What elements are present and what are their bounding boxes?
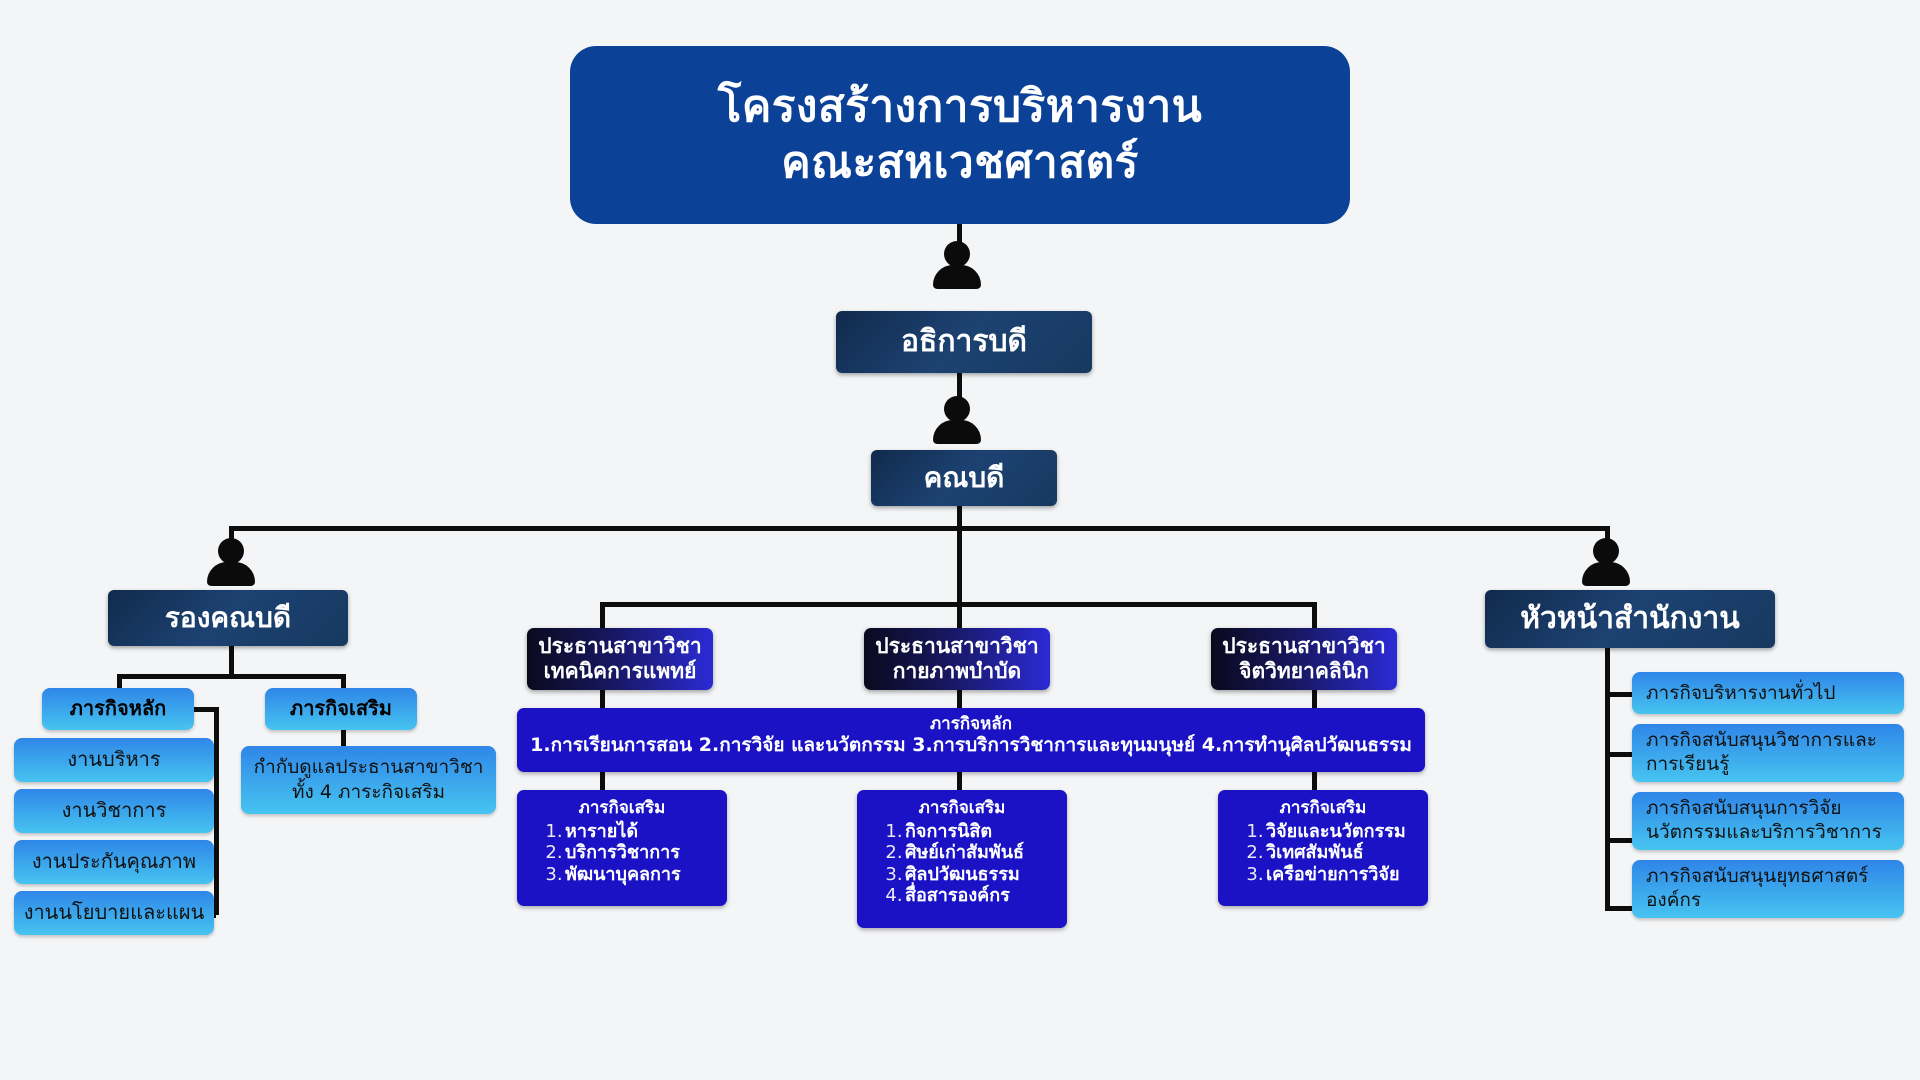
connector-office-item-2 [1605, 838, 1635, 843]
connector-mission-support-1 [957, 772, 962, 792]
node-chair-physical-therapy[interactable]: ประธานสาขาวิชา กายภาพบำบัด [864, 628, 1050, 690]
chip-vicedean-main-item[interactable]: งานบริหาร [14, 738, 214, 782]
chip-office-item[interactable]: ภารกิจสนับสนุนวิชาการและการเรียนรู้ [1632, 724, 1904, 782]
node-dean[interactable]: คณบดี [871, 450, 1057, 506]
connector-office-head-spine [1605, 648, 1610, 908]
connector-chair0-mission [600, 690, 605, 710]
node-office-head[interactable]: หัวหน้าสำนักงาน [1485, 590, 1775, 648]
chip-vicedean-main-group[interactable]: ภารกิจหลัก [42, 688, 194, 730]
node-dean-label: คณบดี [924, 461, 1005, 494]
node-rector-label: อธิการบดี [901, 324, 1027, 359]
panel-support-medical-technology[interactable]: ภารกิจเสริม 1.หารายได้ 2.บริการวิชาการ 3… [517, 790, 727, 906]
chip-vicedean-main-item[interactable]: งานนโยบายและแผน [14, 891, 214, 935]
connector-mission-support-0 [600, 772, 605, 792]
panel-support-clinical-psychology[interactable]: ภารกิจเสริม 1.วิจัยและนวัตกรรม 2.วิเทศสั… [1218, 790, 1428, 906]
panel-shared-main-mission-text: 1.การเรียนการสอน 2.การวิจัย และนวัตกรรม … [527, 734, 1415, 756]
chip-vicedean-support-group[interactable]: ภารกิจเสริม [265, 688, 417, 730]
chip-office-item[interactable]: ภารกิจบริหารงานทั่วไป [1632, 672, 1904, 714]
connector-dean-down [957, 506, 962, 528]
chip-office-item[interactable]: ภารกิจสนับสนุนยุทธศาสตร์องค์กร [1632, 860, 1904, 918]
node-chair-medical-technology[interactable]: ประธานสาขาวิชา เทคนิคการแพทย์ [527, 628, 713, 690]
chart-title-card: โครงสร้างการบริหารงาน คณะสหเวชศาสตร์ [570, 46, 1350, 224]
panel-shared-main-mission-label: ภารกิจหลัก [527, 714, 1415, 734]
rector-person-icon [933, 241, 981, 289]
connector-office-item-0 [1605, 692, 1635, 697]
chart-title-line-1: โครงสร้างการบริหารงาน [718, 79, 1203, 135]
connector-bus-center-drop [957, 526, 962, 606]
chip-vicedean-main-item[interactable]: งานวิชาการ [14, 789, 214, 833]
chip-vicedean-support-group-label: ภารกิจเสริม [290, 697, 392, 721]
org-chart-canvas: โครงสร้างการบริหารงาน คณะสหเวชศาสตร์ อธิ… [0, 0, 1920, 1080]
node-office-head-label: หัวหน้าสำนักงาน [1520, 601, 1740, 636]
connector-top-bus [229, 526, 1610, 531]
connector-chair1-mission [957, 690, 962, 710]
chip-vicedean-main-group-label: ภารกิจหลัก [70, 697, 167, 721]
node-vice-dean[interactable]: รองคณบดี [108, 590, 348, 646]
connector-office-item-3 [1605, 906, 1635, 911]
chip-office-item[interactable]: ภารกิจสนับสนุนการวิจัย นวัตกรรมและบริการ… [1632, 792, 1904, 850]
dean-person-icon [933, 396, 981, 444]
connector-mission-support-2 [1312, 772, 1317, 792]
node-rector[interactable]: อธิการบดี [836, 311, 1092, 373]
connector-vicedean-down [229, 646, 234, 676]
connector-office-item-1 [1605, 752, 1635, 757]
node-vice-dean-label: รองคณบดี [165, 601, 291, 634]
office-head-person-icon [1582, 538, 1630, 586]
connector-vicedean-split [117, 674, 346, 679]
chip-vicedean-support-item[interactable]: กำกับดูแลประธานสาขาวิชาทั้ง 4 ภาระกิจเสร… [241, 746, 496, 814]
panel-support-physical-therapy[interactable]: ภารกิจเสริม 1.กิจการนิสิต 2.ศิษย์เก่าสัม… [857, 790, 1067, 928]
connector-chair2-mission [1312, 690, 1317, 710]
chip-vicedean-main-item[interactable]: งานประกันคุณภาพ [14, 840, 214, 884]
node-chair-clinical-psychology[interactable]: ประธานสาขาวิชา จิตวิทยาคลินิก [1211, 628, 1397, 690]
vice-dean-person-icon [207, 538, 255, 586]
chart-title-line-2: คณะสหเวชศาสตร์ [718, 135, 1203, 191]
panel-shared-main-mission[interactable]: ภารกิจหลัก 1.การเรียนการสอน 2.การวิจัย แ… [517, 708, 1425, 772]
